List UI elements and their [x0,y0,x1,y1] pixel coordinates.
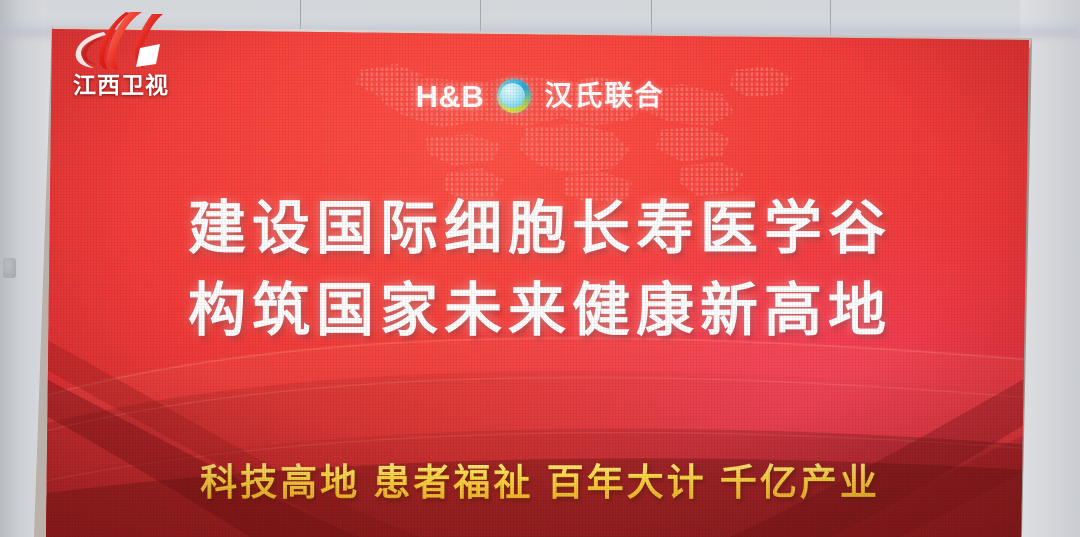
brand-latin-name: H&B [416,81,485,112]
red-swoosh-icon [64,10,176,72]
headline-line-2: 构筑国家未来健康新高地 [0,270,1080,352]
headline-block: 建设国际细胞长寿医学谷 构筑国家未来健康新高地 [0,188,1080,352]
circle-globe-icon-core [500,83,525,108]
jiangxi-tv-logo: 江西卫视 [58,10,184,102]
headline-line-1: 建设国际细胞长寿医学谷 [0,188,1080,270]
circle-globe-icon [497,79,531,113]
slogan-text: 科技高地 患者福祉 百年大计 千亿产业 [0,452,1080,506]
jiangxi-tv-logo-text: 江西卫视 [58,72,184,98]
brand-chinese-name: 汉氏联合 [544,82,664,110]
screenshot-stage: H&B 汉氏联合 建设国际细胞长寿医学谷 构筑国家未来健康新高地 科技高地 患者… [0,0,1080,537]
wall-socket [3,258,16,278]
